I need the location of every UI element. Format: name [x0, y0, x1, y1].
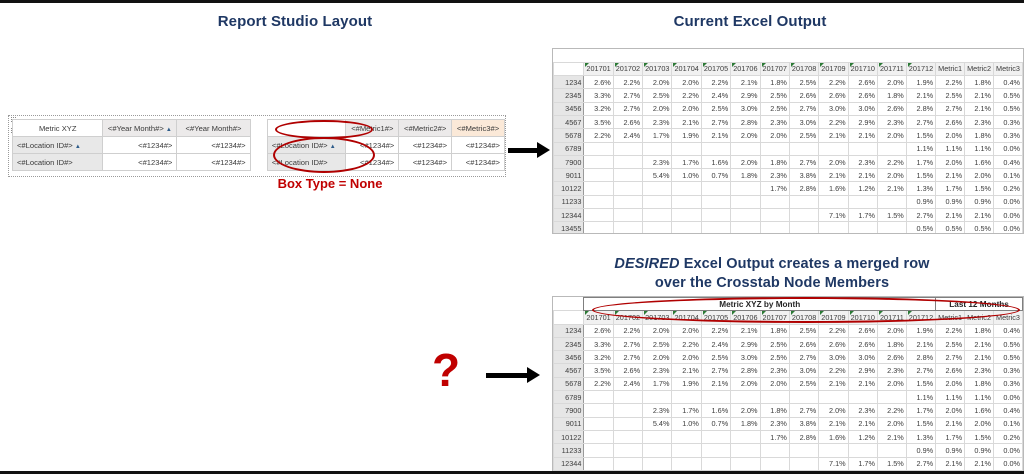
- cell-2345-201703[interactable]: 2.5%: [643, 89, 672, 102]
- cell-1234-Metric1[interactable]: 2.2%: [936, 76, 965, 89]
- cell-10122-Metric3[interactable]: 0.2%: [994, 430, 1023, 443]
- rs-corner-blank[interactable]: [267, 120, 346, 137]
- cell-1234-Metric2[interactable]: 1.8%: [965, 76, 994, 89]
- cell-12344-201709[interactable]: 7.1%: [819, 457, 848, 470]
- cell-5678-Metric1[interactable]: 2.0%: [936, 377, 965, 390]
- cell-3456-201710[interactable]: 3.0%: [848, 102, 877, 115]
- cell-10122-Metric3[interactable]: 0.2%: [994, 182, 1023, 195]
- cell-11233-201707[interactable]: [760, 195, 789, 208]
- cell-1234-201706[interactable]: 2.1%: [731, 324, 760, 337]
- cell-6789-201708[interactable]: [789, 391, 818, 404]
- cell-9011-201706[interactable]: 1.8%: [731, 417, 760, 430]
- cell-4567-201701[interactable]: 3.5%: [584, 364, 613, 377]
- cell-10122-201709[interactable]: 1.6%: [819, 430, 848, 443]
- cell-3456-Metric2[interactable]: 2.1%: [965, 351, 994, 364]
- cell-11233-Metric2[interactable]: 0.9%: [965, 195, 994, 208]
- cell-10122-201710[interactable]: 1.2%: [848, 182, 877, 195]
- cell-2345-201712[interactable]: 2.1%: [906, 89, 935, 102]
- row-header-4567[interactable]: 4567: [554, 115, 584, 128]
- cell-7900-201703[interactable]: 2.3%: [643, 155, 672, 168]
- cell-13455-201710[interactable]: [848, 470, 877, 474]
- rs-cell-value[interactable]: <#1234#>: [346, 137, 399, 154]
- cell-2345-201701[interactable]: 3.3%: [584, 89, 613, 102]
- cell-9011-201701[interactable]: [584, 417, 613, 430]
- rs-cell-value[interactable]: <#1234#>: [177, 154, 250, 171]
- cell-2345-201709[interactable]: 2.6%: [819, 89, 848, 102]
- cell-12344-201710[interactable]: 1.7%: [848, 457, 877, 470]
- cell-12344-201703[interactable]: [643, 457, 672, 470]
- cell-2345-Metric3[interactable]: 0.5%: [994, 337, 1023, 350]
- cell-12344-Metric2[interactable]: 2.1%: [965, 209, 994, 222]
- cell-6789-Metric1[interactable]: 1.1%: [936, 391, 965, 404]
- cell-4567-201704[interactable]: 2.1%: [672, 364, 701, 377]
- cell-11233-201708[interactable]: [789, 444, 818, 457]
- cell-3456-201706[interactable]: 3.0%: [731, 102, 760, 115]
- column-header-201706[interactable]: 201706: [731, 62, 760, 75]
- rs-cell-value[interactable]: <#1234#>: [177, 137, 250, 154]
- cell-13455-201701[interactable]: [584, 470, 613, 474]
- cell-13455-201709[interactable]: [819, 470, 848, 474]
- cell-13455-201710[interactable]: [848, 222, 877, 234]
- cell-9011-201704[interactable]: 1.0%: [672, 417, 701, 430]
- cell-6789-201710[interactable]: [848, 391, 877, 404]
- rs-col-header-metric2[interactable]: <#Metric2#>: [399, 120, 452, 137]
- cell-9011-201707[interactable]: 2.3%: [760, 169, 789, 182]
- cell-12344-201712[interactable]: 2.7%: [906, 457, 935, 470]
- cell-6789-Metric3[interactable]: 0.0%: [994, 391, 1023, 404]
- cell-4567-Metric1[interactable]: 2.6%: [936, 364, 965, 377]
- column-header-201705[interactable]: 201705: [701, 62, 730, 75]
- cell-4567-201710[interactable]: 2.9%: [848, 115, 877, 128]
- cell-12344-201706[interactable]: [731, 209, 760, 222]
- cell-3456-201710[interactable]: 3.0%: [848, 351, 877, 364]
- cell-1234-Metric2[interactable]: 1.8%: [965, 324, 994, 337]
- cell-1234-201703[interactable]: 2.0%: [643, 76, 672, 89]
- cell-10122-201701[interactable]: [584, 430, 613, 443]
- row-header-13455[interactable]: 13455: [554, 470, 584, 474]
- cell-12344-201705[interactable]: [701, 209, 730, 222]
- cell-7900-201709[interactable]: 2.0%: [819, 404, 848, 417]
- cell-7900-Metric2[interactable]: 1.6%: [965, 155, 994, 168]
- row-header-9011[interactable]: 9011: [554, 417, 584, 430]
- cell-13455-201702[interactable]: [613, 222, 642, 234]
- column-header-201702[interactable]: 201702: [613, 311, 642, 324]
- cell-10122-201704[interactable]: [672, 182, 701, 195]
- column-header-201709[interactable]: 201709: [819, 311, 848, 324]
- cell-12344-201704[interactable]: [672, 209, 701, 222]
- grid-corner-cell[interactable]: [554, 62, 584, 75]
- column-header-metric3[interactable]: Metric3: [994, 311, 1023, 324]
- cell-11233-201705[interactable]: [701, 195, 730, 208]
- merged-header-metric-xyz-by-month[interactable]: Metric XYZ by Month: [584, 298, 936, 311]
- row-header-1234[interactable]: 1234: [554, 324, 584, 337]
- cell-7900-201710[interactable]: 2.3%: [848, 155, 877, 168]
- cell-13455-Metric2[interactable]: 0.5%: [965, 222, 994, 234]
- row-header-11233[interactable]: 11233: [554, 195, 584, 208]
- cell-9011-201705[interactable]: 0.7%: [701, 417, 730, 430]
- cell-12344-201707[interactable]: [760, 457, 789, 470]
- row-header-12344[interactable]: 12344: [554, 209, 584, 222]
- row-header-12344[interactable]: 12344: [554, 457, 584, 470]
- cell-10122-201707[interactable]: 1.7%: [760, 182, 789, 195]
- cell-3456-201708[interactable]: 2.7%: [789, 102, 818, 115]
- cell-3456-201701[interactable]: 3.2%: [584, 351, 613, 364]
- cell-12344-Metric2[interactable]: 2.1%: [965, 457, 994, 470]
- column-header-metric3[interactable]: Metric3: [994, 62, 1023, 75]
- cell-2345-201703[interactable]: 2.5%: [643, 337, 672, 350]
- cell-13455-201702[interactable]: [613, 470, 642, 474]
- cell-10122-Metric1[interactable]: 1.7%: [936, 430, 965, 443]
- cell-12344-Metric3[interactable]: 0.0%: [994, 209, 1023, 222]
- cell-7900-201705[interactable]: 1.6%: [701, 155, 730, 168]
- cell-6789-201707[interactable]: [760, 391, 789, 404]
- cell-4567-201705[interactable]: 2.7%: [701, 115, 730, 128]
- cell-3456-201705[interactable]: 2.5%: [701, 351, 730, 364]
- cell-13455-201707[interactable]: [760, 470, 789, 474]
- cell-1234-201712[interactable]: 1.9%: [906, 76, 935, 89]
- cell-3456-201706[interactable]: 3.0%: [731, 351, 760, 364]
- cell-4567-201711[interactable]: 2.3%: [877, 364, 906, 377]
- row-header-5678[interactable]: 5678: [554, 129, 584, 142]
- cell-1234-201709[interactable]: 2.2%: [819, 324, 848, 337]
- cell-10122-201711[interactable]: 2.1%: [877, 430, 906, 443]
- cell-10122-201705[interactable]: [701, 182, 730, 195]
- row-header-9011[interactable]: 9011: [554, 169, 584, 182]
- cell-1234-201706[interactable]: 2.1%: [731, 76, 760, 89]
- cell-1234-201704[interactable]: 2.0%: [672, 76, 701, 89]
- cell-6789-201705[interactable]: [701, 391, 730, 404]
- cell-13455-Metric1[interactable]: 0.5%: [936, 222, 965, 234]
- cell-10122-201703[interactable]: [643, 182, 672, 195]
- cell-12344-201708[interactable]: [789, 457, 818, 470]
- cell-2345-201702[interactable]: 2.7%: [613, 89, 642, 102]
- cell-5678-201705[interactable]: 2.1%: [701, 377, 730, 390]
- cell-5678-201706[interactable]: 2.0%: [731, 377, 760, 390]
- cell-1234-201702[interactable]: 2.2%: [613, 324, 642, 337]
- cell-5678-201703[interactable]: 1.7%: [643, 377, 672, 390]
- cell-12344-201711[interactable]: 1.5%: [877, 209, 906, 222]
- cell-2345-201710[interactable]: 2.6%: [848, 337, 877, 350]
- cell-7900-Metric2[interactable]: 1.6%: [965, 404, 994, 417]
- cell-5678-201710[interactable]: 2.1%: [848, 377, 877, 390]
- cell-6789-201702[interactable]: [613, 391, 642, 404]
- rs-cell-value[interactable]: <#1234#>: [103, 154, 177, 171]
- cell-13455-201704[interactable]: [672, 222, 701, 234]
- cell-2345-Metric1[interactable]: 2.5%: [936, 89, 965, 102]
- cell-6789-201708[interactable]: [789, 142, 818, 155]
- cell-2345-201710[interactable]: 2.6%: [848, 89, 877, 102]
- cell-12344-201707[interactable]: [760, 209, 789, 222]
- cell-12344-201706[interactable]: [731, 457, 760, 470]
- column-header-201705[interactable]: 201705: [701, 311, 730, 324]
- cell-9011-201712[interactable]: 1.5%: [906, 417, 935, 430]
- merged-header-last-12-months[interactable]: Last 12 Months: [936, 298, 1023, 311]
- column-header-201703[interactable]: 201703: [643, 62, 672, 75]
- cell-3456-201702[interactable]: 2.7%: [613, 102, 642, 115]
- cell-2345-201707[interactable]: 2.5%: [760, 337, 789, 350]
- cell-4567-201707[interactable]: 2.3%: [760, 115, 789, 128]
- rs-cell-value[interactable]: <#1234#>: [399, 154, 452, 171]
- column-header-201701[interactable]: 201701: [584, 311, 613, 324]
- cell-9011-201710[interactable]: 2.1%: [848, 169, 877, 182]
- column-header-201707[interactable]: 201707: [760, 311, 789, 324]
- cell-7900-201711[interactable]: 2.2%: [877, 404, 906, 417]
- cell-6789-201705[interactable]: [701, 142, 730, 155]
- cell-1234-201705[interactable]: 2.2%: [701, 76, 730, 89]
- cell-6789-201706[interactable]: [731, 391, 760, 404]
- cell-12344-Metric3[interactable]: 0.0%: [994, 457, 1023, 470]
- cell-2345-201708[interactable]: 2.6%: [789, 89, 818, 102]
- rs-cell-value[interactable]: <#1234#>: [399, 137, 452, 154]
- cell-11233-Metric3[interactable]: 0.0%: [994, 444, 1023, 457]
- rs-col-header-metric1[interactable]: <#Metric1#>: [346, 120, 399, 137]
- cell-11233-201701[interactable]: [584, 444, 613, 457]
- cell-13455-Metric1[interactable]: 0.5%: [936, 470, 965, 474]
- cell-4567-201709[interactable]: 2.2%: [819, 364, 848, 377]
- cell-12344-201710[interactable]: 1.7%: [848, 209, 877, 222]
- cell-12344-201701[interactable]: [584, 209, 613, 222]
- rs-col-header-yearmonth-1[interactable]: <#Year Month#> ▲: [103, 120, 177, 137]
- cell-12344-Metric1[interactable]: 2.1%: [936, 209, 965, 222]
- cell-2345-201706[interactable]: 2.9%: [731, 337, 760, 350]
- row-header-5678[interactable]: 5678: [554, 377, 584, 390]
- cell-13455-201711[interactable]: [877, 470, 906, 474]
- cell-10122-201712[interactable]: 1.3%: [906, 182, 935, 195]
- column-header-201707[interactable]: 201707: [760, 62, 789, 75]
- cell-13455-Metric3[interactable]: 0.0%: [994, 222, 1023, 234]
- cell-4567-201705[interactable]: 2.7%: [701, 364, 730, 377]
- cell-11233-201712[interactable]: 0.9%: [906, 195, 935, 208]
- cell-9011-201703[interactable]: 5.4%: [643, 417, 672, 430]
- rs-cell-value[interactable]: <#1234#>: [346, 154, 399, 171]
- cell-1234-201708[interactable]: 2.5%: [789, 324, 818, 337]
- rs-col-header-metric3[interactable]: <#Metric3#>: [452, 120, 505, 137]
- column-header-201706[interactable]: 201706: [731, 311, 760, 324]
- cell-5678-201706[interactable]: 2.0%: [731, 129, 760, 142]
- row-header-2345[interactable]: 2345: [554, 89, 584, 102]
- cell-13455-201704[interactable]: [672, 470, 701, 474]
- cell-4567-Metric3[interactable]: 0.3%: [994, 364, 1023, 377]
- cell-4567-201711[interactable]: 2.3%: [877, 115, 906, 128]
- cell-10122-201703[interactable]: [643, 430, 672, 443]
- cell-1234-Metric1[interactable]: 2.2%: [936, 324, 965, 337]
- cell-10122-201712[interactable]: 1.3%: [906, 430, 935, 443]
- cell-11233-Metric1[interactable]: 0.9%: [936, 195, 965, 208]
- cell-7900-201707[interactable]: 1.8%: [760, 155, 789, 168]
- cell-5678-Metric1[interactable]: 2.0%: [936, 129, 965, 142]
- cell-5678-201707[interactable]: 2.0%: [760, 377, 789, 390]
- cell-11233-Metric3[interactable]: 0.0%: [994, 195, 1023, 208]
- cell-7900-Metric3[interactable]: 0.4%: [994, 155, 1023, 168]
- cell-10122-201702[interactable]: [613, 430, 642, 443]
- cell-5678-Metric2[interactable]: 1.8%: [965, 129, 994, 142]
- cell-5678-201703[interactable]: 1.7%: [643, 129, 672, 142]
- column-header-201712[interactable]: 201712: [906, 62, 935, 75]
- cell-11233-201701[interactable]: [584, 195, 613, 208]
- cell-10122-201706[interactable]: [731, 430, 760, 443]
- cell-9011-201705[interactable]: 0.7%: [701, 169, 730, 182]
- excel-sheet-desired-output[interactable]: Metric XYZ by MonthLast 12 Months2017012…: [552, 296, 1024, 474]
- cell-2345-Metric1[interactable]: 2.5%: [936, 337, 965, 350]
- cell-5678-201704[interactable]: 1.9%: [672, 377, 701, 390]
- cell-7900-201708[interactable]: 2.7%: [789, 404, 818, 417]
- cell-12344-201712[interactable]: 2.7%: [906, 209, 935, 222]
- cell-2345-Metric2[interactable]: 2.1%: [965, 89, 994, 102]
- cell-1234-201705[interactable]: 2.2%: [701, 324, 730, 337]
- cell-13455-Metric3[interactable]: 0.0%: [994, 470, 1023, 474]
- cell-1234-201708[interactable]: 2.5%: [789, 76, 818, 89]
- cell-1234-201701[interactable]: 2.6%: [584, 324, 613, 337]
- cell-11233-201708[interactable]: [789, 195, 818, 208]
- row-header-4567[interactable]: 4567: [554, 364, 584, 377]
- cell-13455-201711[interactable]: [877, 222, 906, 234]
- cell-1234-Metric3[interactable]: 0.4%: [994, 76, 1023, 89]
- cell-5678-Metric3[interactable]: 0.3%: [994, 129, 1023, 142]
- cell-5678-201705[interactable]: 2.1%: [701, 129, 730, 142]
- cell-9011-Metric3[interactable]: 0.1%: [994, 169, 1023, 182]
- cell-13455-201706[interactable]: [731, 470, 760, 474]
- cell-2345-201704[interactable]: 2.2%: [672, 89, 701, 102]
- cell-9011-201709[interactable]: 2.1%: [819, 417, 848, 430]
- cell-9011-201704[interactable]: 1.0%: [672, 169, 701, 182]
- cell-4567-201712[interactable]: 2.7%: [906, 364, 935, 377]
- cell-10122-201708[interactable]: 2.8%: [789, 430, 818, 443]
- cell-7900-201710[interactable]: 2.3%: [848, 404, 877, 417]
- cell-3456-201712[interactable]: 2.8%: [906, 102, 935, 115]
- cell-7900-201712[interactable]: 1.7%: [906, 404, 935, 417]
- cell-5678-201709[interactable]: 2.1%: [819, 129, 848, 142]
- cell-9011-201701[interactable]: [584, 169, 613, 182]
- cell-6789-201706[interactable]: [731, 142, 760, 155]
- cell-12344-201708[interactable]: [789, 209, 818, 222]
- cell-4567-Metric3[interactable]: 0.3%: [994, 115, 1023, 128]
- cell-6789-201712[interactable]: 1.1%: [906, 142, 935, 155]
- cell-5678-201708[interactable]: 2.5%: [789, 129, 818, 142]
- cell-7900-201702[interactable]: [613, 404, 642, 417]
- cell-4567-201706[interactable]: 2.8%: [731, 364, 760, 377]
- cell-1234-201704[interactable]: 2.0%: [672, 324, 701, 337]
- cell-1234-201709[interactable]: 2.2%: [819, 76, 848, 89]
- cell-1234-201707[interactable]: 1.8%: [760, 324, 789, 337]
- row-header-3456[interactable]: 3456: [554, 102, 584, 115]
- cell-6789-201704[interactable]: [672, 142, 701, 155]
- cell-4567-201712[interactable]: 2.7%: [906, 115, 935, 128]
- cell-11233-201705[interactable]: [701, 444, 730, 457]
- cell-10122-201709[interactable]: 1.6%: [819, 182, 848, 195]
- column-header-201704[interactable]: 201704: [672, 62, 701, 75]
- cell-12344-201705[interactable]: [701, 457, 730, 470]
- cell-4567-201702[interactable]: 2.6%: [613, 364, 642, 377]
- cell-6789-201704[interactable]: [672, 391, 701, 404]
- row-header-7900[interactable]: 7900: [554, 404, 584, 417]
- cell-3456-Metric3[interactable]: 0.5%: [994, 102, 1023, 115]
- cell-7900-Metric1[interactable]: 2.0%: [936, 404, 965, 417]
- column-header-metric1[interactable]: Metric1: [936, 62, 965, 75]
- column-header-201710[interactable]: 201710: [848, 62, 877, 75]
- cell-4567-201709[interactable]: 2.2%: [819, 115, 848, 128]
- cell-7900-201706[interactable]: 2.0%: [731, 155, 760, 168]
- cell-13455-201707[interactable]: [760, 222, 789, 234]
- cell-13455-201703[interactable]: [643, 222, 672, 234]
- cell-11233-201707[interactable]: [760, 444, 789, 457]
- cell-9011-201712[interactable]: 1.5%: [906, 169, 935, 182]
- excel-sheet-current-output[interactable]: 2017012017022017032017042017052017062017…: [552, 48, 1024, 234]
- cell-11233-201706[interactable]: [731, 195, 760, 208]
- cell-1234-201712[interactable]: 1.9%: [906, 324, 935, 337]
- cell-11233-201712[interactable]: 0.9%: [906, 444, 935, 457]
- cell-4567-201710[interactable]: 2.9%: [848, 364, 877, 377]
- rs-row-label-location-right-2[interactable]: <#Location ID#>: [267, 154, 346, 171]
- row-header-6789[interactable]: 6789: [554, 142, 584, 155]
- cell-13455-201706[interactable]: [731, 222, 760, 234]
- cell-12344-201709[interactable]: 7.1%: [819, 209, 848, 222]
- cell-11233-201706[interactable]: [731, 444, 760, 457]
- cell-10122-Metric2[interactable]: 1.5%: [965, 430, 994, 443]
- cell-3456-201707[interactable]: 2.5%: [760, 351, 789, 364]
- column-header-201711[interactable]: 201711: [877, 311, 906, 324]
- cell-3456-201702[interactable]: 2.7%: [613, 351, 642, 364]
- cell-5678-201704[interactable]: 1.9%: [672, 129, 701, 142]
- cell-5678-201709[interactable]: 2.1%: [819, 377, 848, 390]
- cell-11233-201702[interactable]: [613, 195, 642, 208]
- cell-12344-201702[interactable]: [613, 209, 642, 222]
- column-header-metric2[interactable]: Metric2: [965, 62, 994, 75]
- row-header-13455[interactable]: 13455: [554, 222, 584, 234]
- cell-4567-201703[interactable]: 2.3%: [643, 115, 672, 128]
- cell-2345-201701[interactable]: 3.3%: [584, 337, 613, 350]
- cell-13455-201709[interactable]: [819, 222, 848, 234]
- cell-5678-201701[interactable]: 2.2%: [584, 129, 613, 142]
- cell-4567-201701[interactable]: 3.5%: [584, 115, 613, 128]
- cell-9011-201709[interactable]: 2.1%: [819, 169, 848, 182]
- rs-row-label-location-2[interactable]: <#Location ID#>: [13, 154, 103, 171]
- cell-9011-201708[interactable]: 3.8%: [789, 417, 818, 430]
- cell-9011-Metric1[interactable]: 2.1%: [936, 417, 965, 430]
- cell-2345-201707[interactable]: 2.5%: [760, 89, 789, 102]
- cell-7900-201701[interactable]: [584, 155, 613, 168]
- cell-5678-201707[interactable]: 2.0%: [760, 129, 789, 142]
- cell-7900-201705[interactable]: 1.6%: [701, 404, 730, 417]
- cell-4567-201708[interactable]: 3.0%: [789, 115, 818, 128]
- cell-6789-201701[interactable]: [584, 391, 613, 404]
- cell-12344-201703[interactable]: [643, 209, 672, 222]
- cell-10122-201704[interactable]: [672, 430, 701, 443]
- cell-2345-Metric3[interactable]: 0.5%: [994, 89, 1023, 102]
- cell-6789-201702[interactable]: [613, 142, 642, 155]
- column-header-201704[interactable]: 201704: [672, 311, 701, 324]
- cell-10122-201707[interactable]: 1.7%: [760, 430, 789, 443]
- cell-7900-201706[interactable]: 2.0%: [731, 404, 760, 417]
- cell-6789-Metric1[interactable]: 1.1%: [936, 142, 965, 155]
- cell-9011-Metric2[interactable]: 2.0%: [965, 169, 994, 182]
- cell-9011-201702[interactable]: [613, 417, 642, 430]
- cell-9011-Metric3[interactable]: 0.1%: [994, 417, 1023, 430]
- cell-11233-201711[interactable]: [877, 195, 906, 208]
- cell-3456-Metric2[interactable]: 2.1%: [965, 102, 994, 115]
- cell-2345-201705[interactable]: 2.4%: [701, 89, 730, 102]
- cell-6789-201703[interactable]: [643, 142, 672, 155]
- cell-3456-201703[interactable]: 2.0%: [643, 351, 672, 364]
- column-header-201708[interactable]: 201708: [789, 311, 818, 324]
- cell-13455-201708[interactable]: [789, 222, 818, 234]
- cell-11233-Metric1[interactable]: 0.9%: [936, 444, 965, 457]
- cell-2345-201702[interactable]: 2.7%: [613, 337, 642, 350]
- cell-5678-201701[interactable]: 2.2%: [584, 377, 613, 390]
- rs-corner-label[interactable]: Metric XYZ: [13, 120, 103, 137]
- cell-3456-201704[interactable]: 2.0%: [672, 102, 701, 115]
- cell-1234-201711[interactable]: 2.0%: [877, 324, 906, 337]
- row-header-3456[interactable]: 3456: [554, 351, 584, 364]
